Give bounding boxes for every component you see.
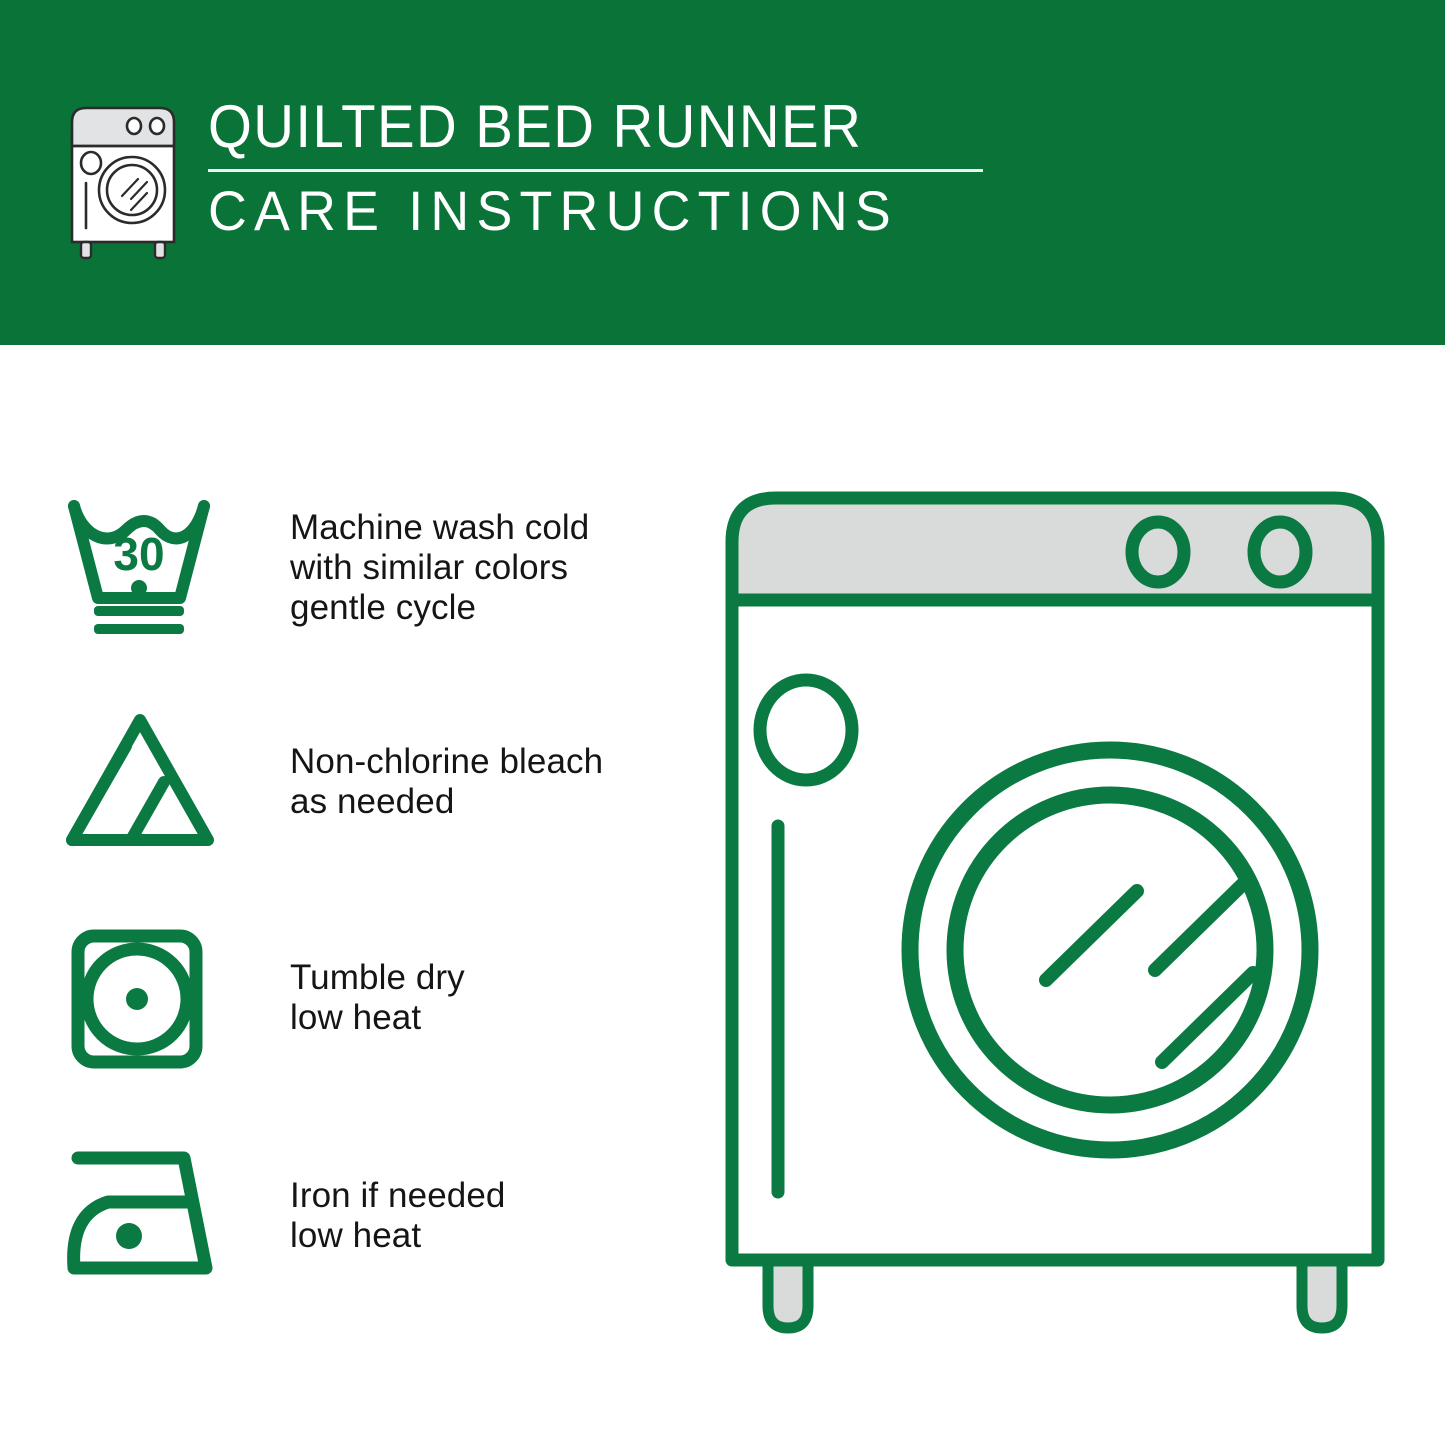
care-item-text: Non-chlorine bleach as needed [290, 708, 660, 822]
care-item-machine-wash: 30 Machine wash cold with similar colors… [60, 492, 660, 708]
care-text-line: Machine wash cold [290, 508, 660, 548]
care-text-line: Non-chlorine bleach [290, 742, 660, 782]
page-subtitle: CARE INSTRUCTIONS [208, 182, 961, 240]
header-text-block: QUILTED BED RUNNER CARE INSTRUCTIONS [208, 96, 992, 240]
care-item-text: Machine wash cold with similar colors ge… [290, 492, 660, 628]
washing-machine-icon [62, 100, 184, 260]
bleach-triangle-icon [60, 708, 235, 868]
knob-left [1132, 522, 1184, 582]
care-item-tumble-dry: Tumble dry low heat [60, 924, 660, 1140]
care-text-line: Iron if needed [290, 1176, 660, 1216]
door-inner-ring [955, 795, 1265, 1105]
care-text-line: with similar colors [290, 548, 660, 588]
care-instructions-infographic: QUILTED BED RUNNER CARE INSTRUCTIONS 30 [0, 0, 1445, 1445]
care-text-line: as needed [290, 782, 660, 822]
care-item-text: Tumble dry low heat [290, 924, 660, 1038]
care-text-line: low heat [290, 998, 660, 1038]
tumble-dry-icon [60, 924, 235, 1084]
wash-tub-30-icon: 30 [60, 492, 235, 652]
title-divider [208, 169, 983, 172]
knob-right [1254, 522, 1306, 582]
iron-icon [60, 1140, 235, 1300]
large-washing-machine-illustration [710, 480, 1400, 1370]
care-text-line: Tumble dry [290, 958, 660, 998]
care-instruction-list: 30 Machine wash cold with similar colors… [60, 492, 660, 1356]
care-text-line: gentle cycle [290, 588, 660, 628]
care-text-line: low heat [290, 1216, 660, 1256]
wash-temperature-label: 30 [113, 528, 164, 580]
care-item-iron: Iron if needed low heat [60, 1140, 660, 1356]
header-band: QUILTED BED RUNNER CARE INSTRUCTIONS [0, 0, 1445, 345]
detergent-dispenser [760, 680, 852, 780]
care-item-text: Iron if needed low heat [290, 1140, 660, 1256]
page-title: QUILTED BED RUNNER [208, 96, 945, 158]
care-item-bleach: Non-chlorine bleach as needed [60, 708, 660, 924]
header-content: QUILTED BED RUNNER CARE INSTRUCTIONS [62, 96, 992, 266]
